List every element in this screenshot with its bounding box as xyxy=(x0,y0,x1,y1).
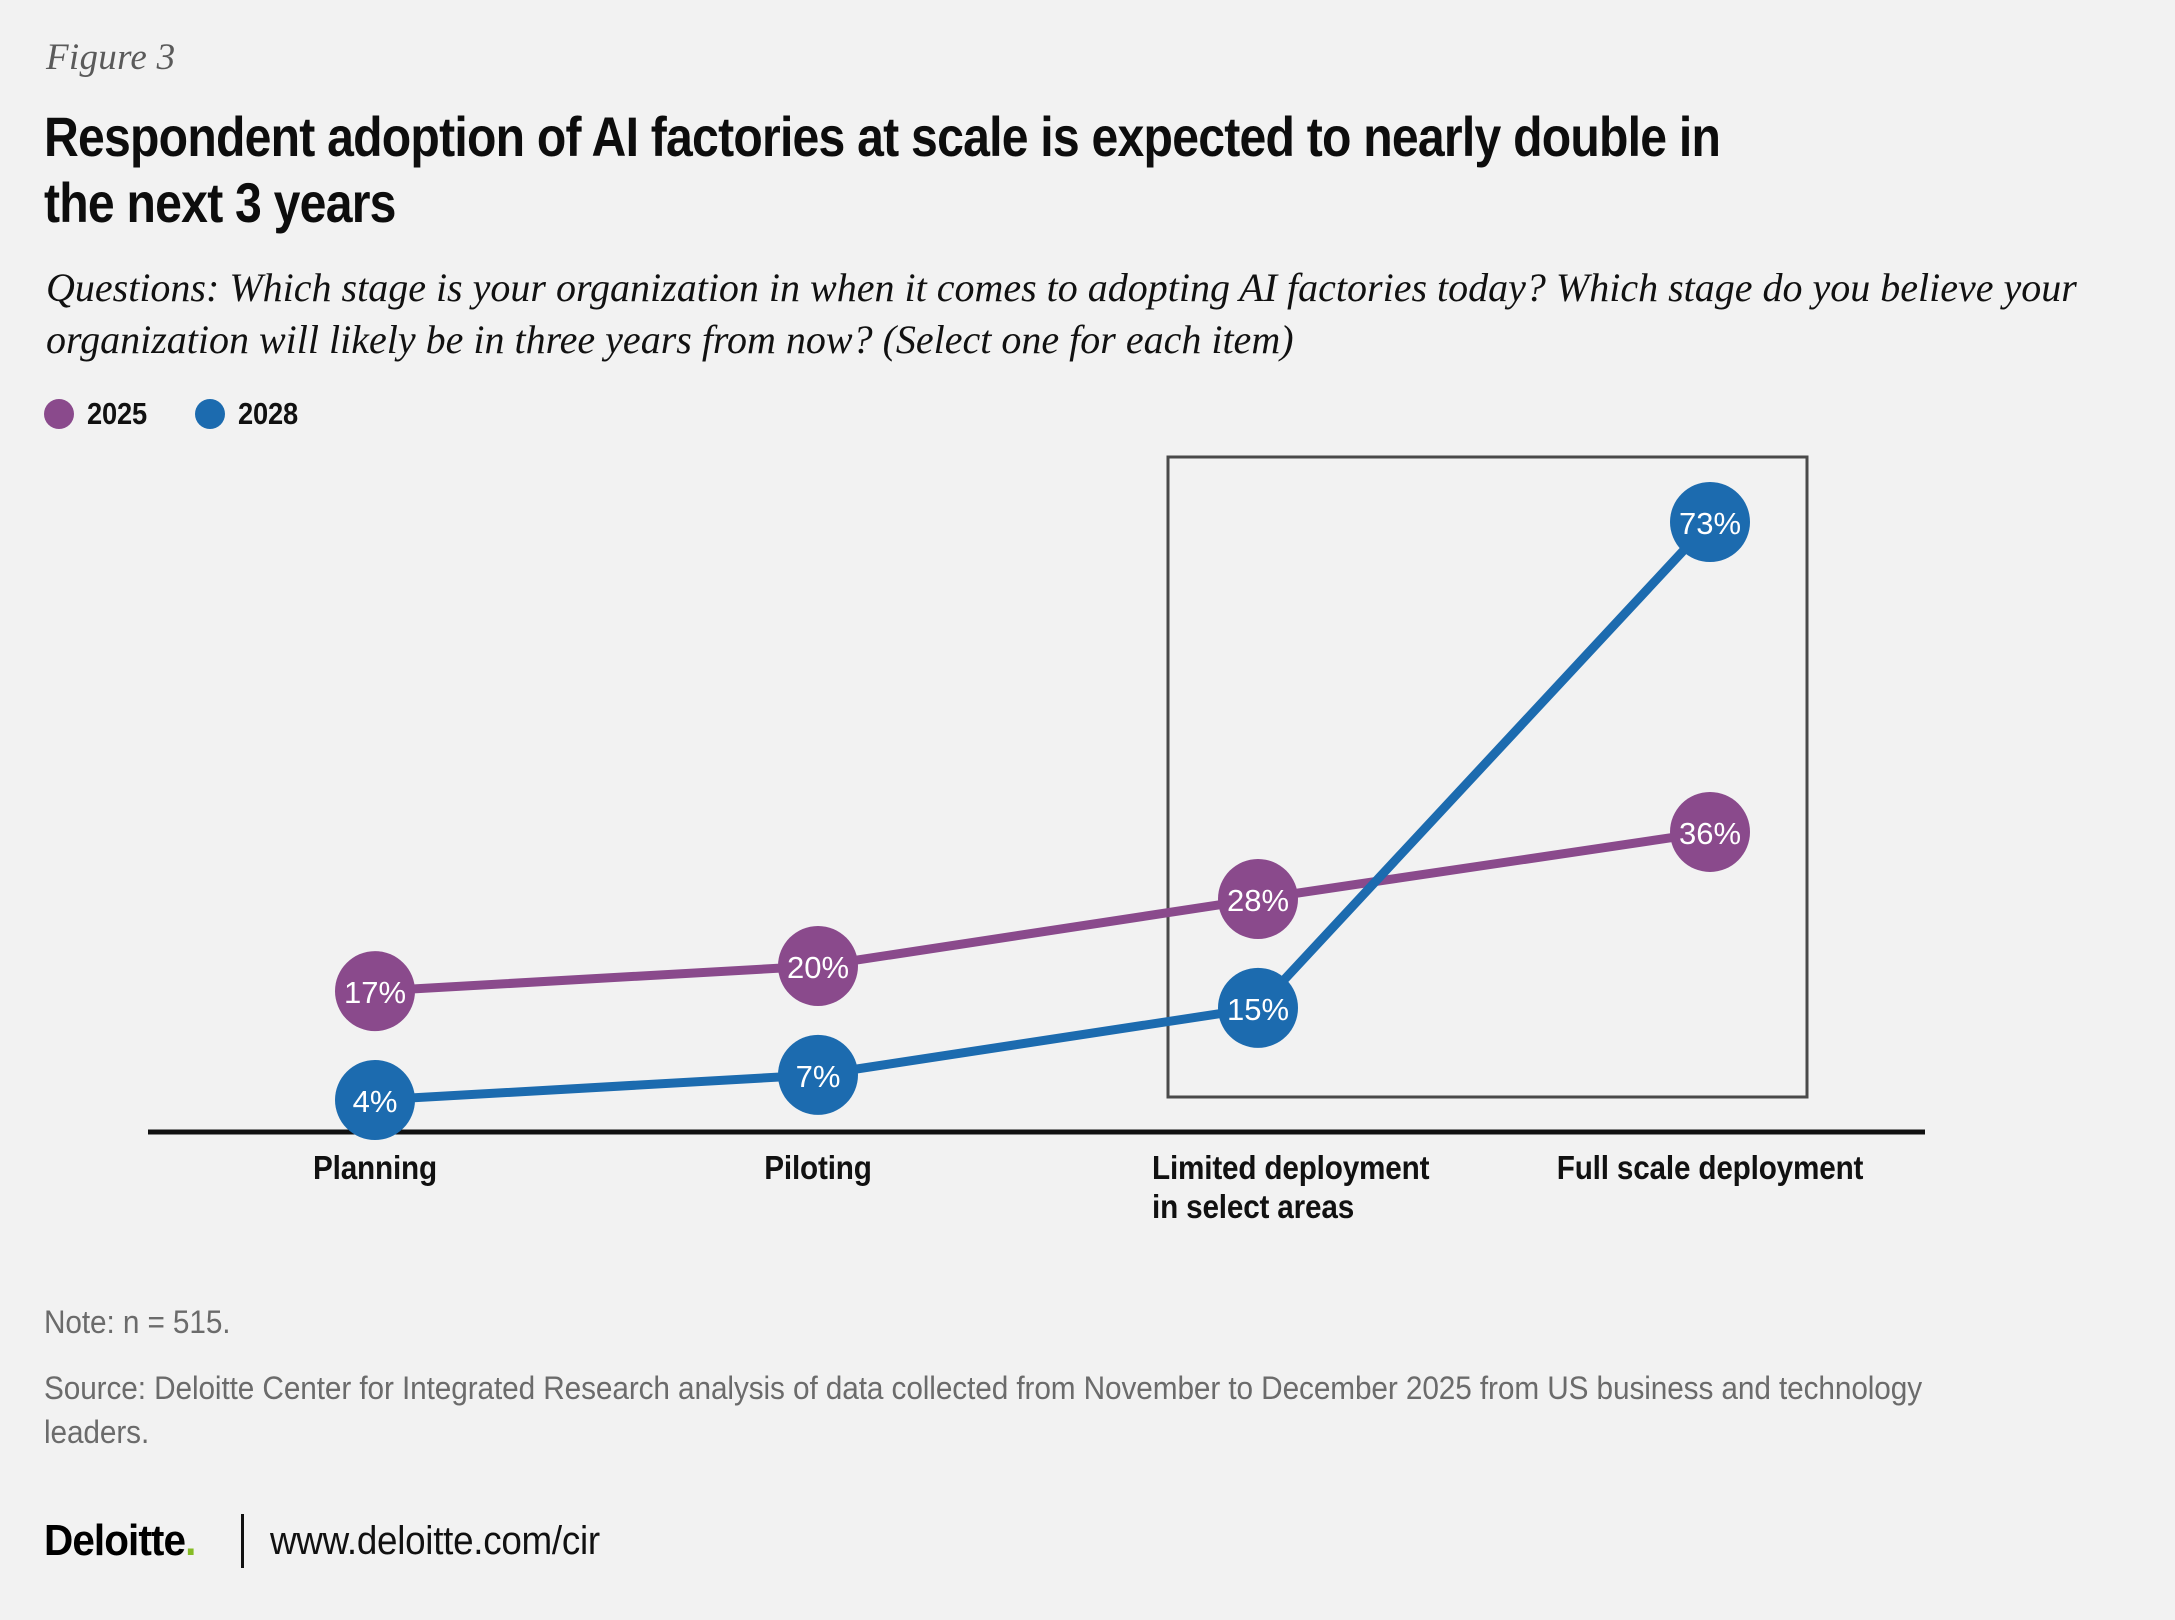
note-sample-size: Note: n = 515. xyxy=(44,1300,1913,1344)
data-point-value-label: 36% xyxy=(1679,816,1741,851)
data-point-2025-2[interactable]: 28% xyxy=(1218,859,1298,939)
series-line-2025 xyxy=(375,832,1710,991)
data-point-value-label: 4% xyxy=(353,1084,398,1119)
figure-page: Figure 3 Respondent adoption of AI facto… xyxy=(0,0,2175,1620)
data-point-2028-1[interactable]: 7% xyxy=(778,1035,858,1115)
data-point-2028-3[interactable]: 73% xyxy=(1670,482,1750,562)
note-source: Source: Deloitte Center for Integrated R… xyxy=(44,1366,2016,1454)
data-point-2025-0[interactable]: 17% xyxy=(335,951,415,1031)
data-point-value-label: 28% xyxy=(1227,883,1289,918)
data-point-value-label: 17% xyxy=(344,975,406,1010)
brand-divider xyxy=(241,1514,244,1568)
data-point-2025-3[interactable]: 36% xyxy=(1670,792,1750,872)
data-point-2028-0[interactable]: 4% xyxy=(335,1060,415,1140)
brand-url-link[interactable]: www.deloitte.com/cir xyxy=(270,1519,600,1564)
x-axis-label-0: Planning xyxy=(313,1148,437,1187)
data-point-value-label: 20% xyxy=(787,950,849,985)
data-point-2025-1[interactable]: 20% xyxy=(778,926,858,1006)
x-axis-label-2: Limited deployment in select areas xyxy=(1152,1148,1429,1226)
data-point-value-label: 73% xyxy=(1679,506,1741,541)
chart-notes: Note: n = 515. Source: Deloitte Center f… xyxy=(44,1300,2054,1454)
x-axis-label-3: Full scale deployment xyxy=(1557,1148,1864,1187)
deloitte-logo: Deloitte. xyxy=(44,1516,195,1566)
line-chart-plot: 17%20%28%36%4%7%15%73% xyxy=(0,0,2175,1260)
brand-green-dot-icon: . xyxy=(185,1516,195,1565)
data-point-2028-2[interactable]: 15% xyxy=(1218,968,1298,1048)
x-axis-label-1: Piloting xyxy=(764,1148,871,1187)
chart-canvas: 17%20%28%36%4%7%15%73% xyxy=(0,0,2175,1260)
data-point-value-label: 7% xyxy=(796,1059,841,1094)
x-axis-label-group: PlanningPilotingLimited deployment in se… xyxy=(0,1148,2175,1268)
brand-footer: Deloitte. www.deloitte.com/cir xyxy=(44,1512,628,1570)
data-point-value-label: 15% xyxy=(1227,992,1289,1027)
brand-name-text: Deloitte xyxy=(44,1516,185,1565)
series-line-2028 xyxy=(375,522,1710,1100)
